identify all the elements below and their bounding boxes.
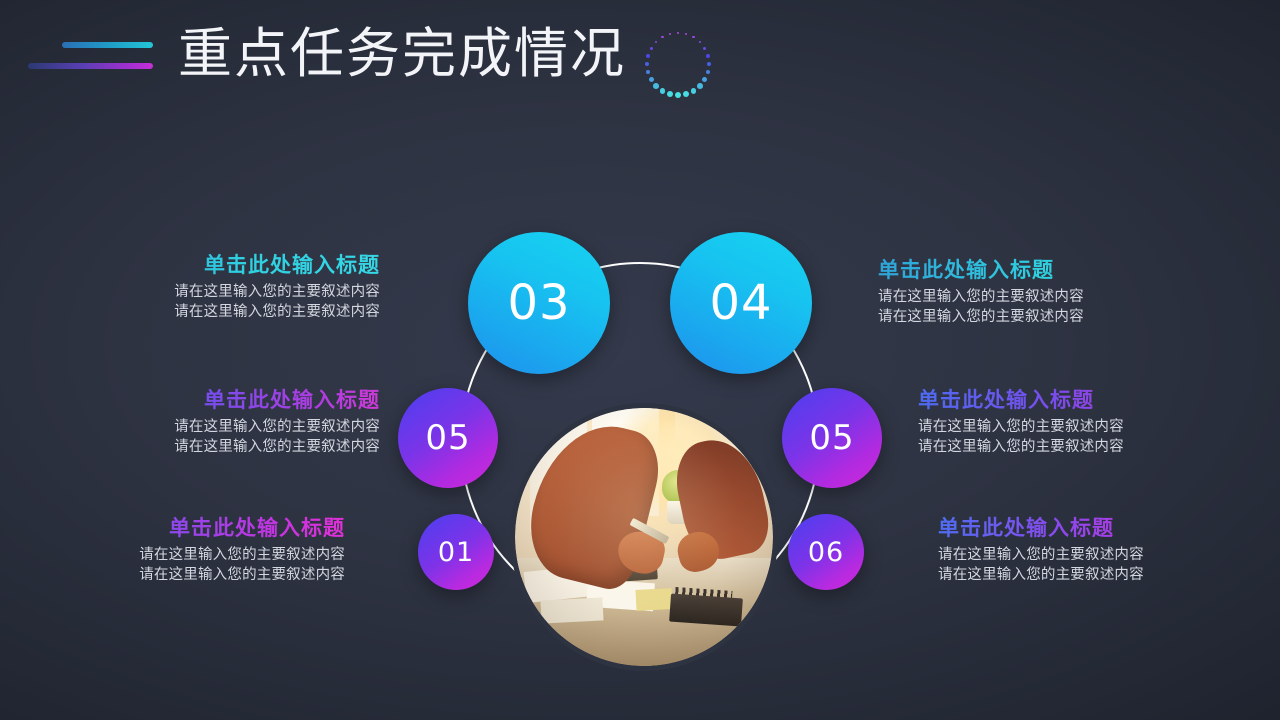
dotted-circle-icon [640,26,716,102]
text-block-right-1: 单击此处输入标题 请在这里输入您的主要叙述内容 请在这里输入您的主要叙述内容 [878,255,1178,327]
text-block-right-2: 单击此处输入标题 请在这里输入您的主要叙述内容 请在这里输入您的主要叙述内容 [918,385,1218,457]
center-photo-image [515,408,773,666]
slide-header: 重点任务完成情况 [0,0,1280,120]
text-block-left-3: 单击此处输入标题 请在这里输入您的主要叙述内容 请在这里输入您的主要叙述内容 [45,513,345,585]
block-line-1: 请在这里输入您的主要叙述内容 [80,282,380,302]
diagram-bubble-03[interactable]: 03 [468,232,610,374]
block-heading: 单击此处输入标题 [938,513,1238,543]
page-title: 重点任务完成情况 [178,22,626,86]
block-line-2: 请在这里输入您的主要叙述内容 [938,565,1238,585]
block-line-1: 请在这里输入您的主要叙述内容 [918,417,1218,437]
diagram-bubble-01[interactable]: 01 [418,514,494,590]
text-block-left-1: 单击此处输入标题 请在这里输入您的主要叙述内容 请在这里输入您的主要叙述内容 [80,250,380,322]
text-block-right-3: 单击此处输入标题 请在这里输入您的主要叙述内容 请在这里输入您的主要叙述内容 [938,513,1238,585]
block-line-2: 请在这里输入您的主要叙述内容 [918,437,1218,457]
presentation-slide: 重点任务完成情况 单击此处输入标题 请在这里输入您的主要叙述内容 请在这里输入您… [0,0,1280,720]
accent-bar-bottom-icon [28,63,153,69]
title-accent-bars [28,34,153,74]
block-line-2: 请在这里输入您的主要叙述内容 [878,307,1178,327]
block-line-1: 请在这里输入您的主要叙述内容 [878,287,1178,307]
block-line-2: 请在这里输入您的主要叙述内容 [80,437,380,457]
block-line-1: 请在这里输入您的主要叙述内容 [45,545,345,565]
diagram-bubble-06[interactable]: 06 [788,514,864,590]
center-photo [515,408,773,666]
block-line-1: 请在这里输入您的主要叙述内容 [938,545,1238,565]
diagram-bubble-05-right[interactable]: 05 [782,388,882,488]
text-block-left-2: 单击此处输入标题 请在这里输入您的主要叙述内容 请在这里输入您的主要叙述内容 [80,385,380,457]
block-line-1: 请在这里输入您的主要叙述内容 [80,417,380,437]
diagram-bubble-04[interactable]: 04 [670,232,812,374]
block-heading: 单击此处输入标题 [80,385,380,415]
block-heading: 单击此处输入标题 [878,255,1178,285]
block-heading: 单击此处输入标题 [918,385,1218,415]
diagram-bubble-05-left[interactable]: 05 [398,388,498,488]
block-line-2: 请在这里输入您的主要叙述内容 [45,565,345,585]
block-heading: 单击此处输入标题 [45,513,345,543]
accent-bar-top-icon [62,42,153,48]
block-heading: 单击此处输入标题 [80,250,380,280]
circular-diagram: 03 04 05 05 01 06 [398,218,882,678]
block-line-2: 请在这里输入您的主要叙述内容 [80,302,380,322]
